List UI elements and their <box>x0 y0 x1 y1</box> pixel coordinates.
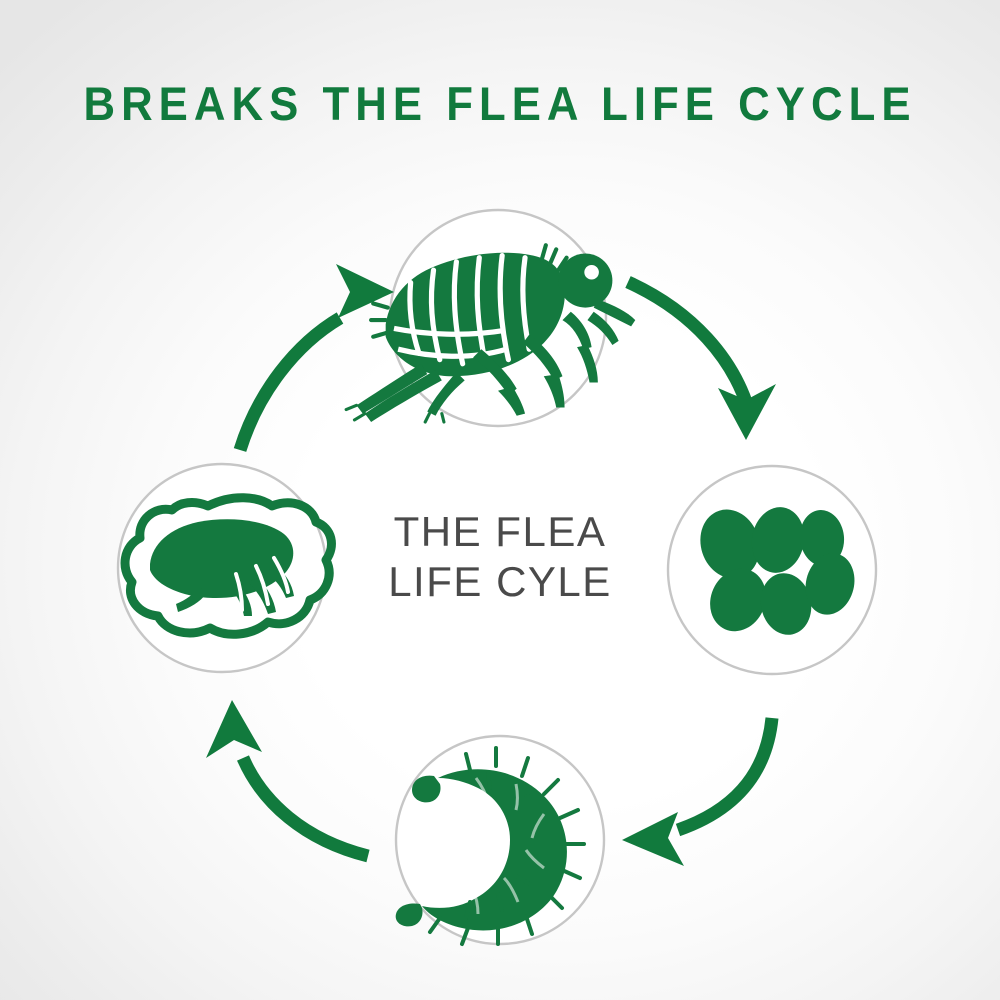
arrow-pupa-to-adult <box>240 264 394 450</box>
arrow-larva-to-pupa <box>206 700 368 856</box>
center-label-line-1: THE FLEA <box>300 507 700 557</box>
arrowhead-up <box>206 700 262 758</box>
infographic-canvas: BREAKS THE FLEA LIFE CYCLE <box>0 0 1000 1000</box>
arrow-adult-to-eggs <box>628 282 776 440</box>
arrowhead-right <box>336 264 394 318</box>
center-label: THE FLEA LIFE CYLE <box>300 507 700 607</box>
center-label-line-2: LIFE CYLE <box>300 557 700 607</box>
flea-life-cycle-diagram <box>0 0 1000 1000</box>
arrow-eggs-to-larva <box>622 718 772 866</box>
arrowhead-left <box>622 812 684 866</box>
